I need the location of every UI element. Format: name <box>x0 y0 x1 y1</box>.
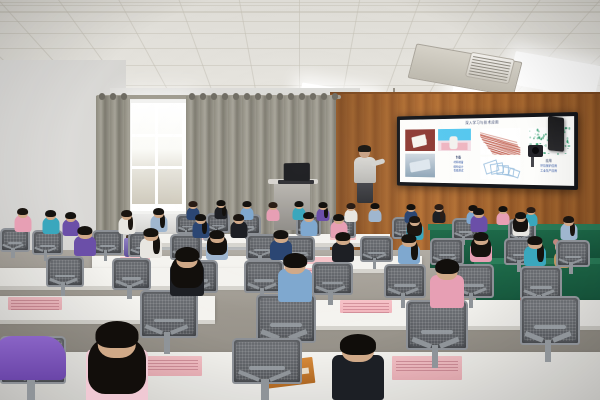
slide-speck <box>545 144 547 147</box>
student <box>332 330 384 400</box>
student-hair <box>209 230 224 239</box>
slide-speck <box>557 153 559 155</box>
student-hair <box>335 232 350 241</box>
student-torso <box>332 355 384 400</box>
chair-post <box>545 340 552 362</box>
window-glass <box>132 104 182 204</box>
presenter-laptop[interactable] <box>284 163 310 181</box>
student-hair <box>333 214 345 222</box>
student <box>332 230 354 262</box>
student-hair <box>143 228 158 237</box>
curtain-hook <box>332 93 338 100</box>
student <box>42 208 59 234</box>
student-hair <box>17 208 29 216</box>
slide-speck <box>545 134 546 135</box>
curtain-hook <box>233 93 239 100</box>
curtain-hook <box>189 93 195 100</box>
curtain-hook <box>321 93 327 100</box>
student-hair <box>294 201 303 207</box>
slide-speck <box>529 136 531 138</box>
student <box>316 201 329 221</box>
chair-post <box>432 345 439 368</box>
student <box>560 214 577 240</box>
chair[interactable] <box>406 300 464 368</box>
chair[interactable] <box>140 290 194 354</box>
slide-image-fiber-diagram <box>480 128 520 155</box>
student <box>118 208 135 234</box>
chair-post <box>328 290 332 305</box>
student <box>470 206 487 232</box>
student <box>74 224 96 256</box>
student <box>14 206 31 232</box>
student-torso <box>14 215 31 232</box>
slide-speck <box>538 131 539 133</box>
chair-post <box>469 293 474 308</box>
student <box>278 250 312 302</box>
student-hair <box>195 214 207 222</box>
student-hair <box>434 204 443 210</box>
ceiling-grid-line <box>0 48 600 49</box>
student-hair <box>303 212 315 220</box>
ceiling-grid-line <box>0 33 600 34</box>
student <box>432 203 445 223</box>
student <box>170 244 204 296</box>
slide-speck <box>542 137 544 139</box>
slide-speck <box>564 132 566 134</box>
wall-speaker-icon <box>548 116 564 152</box>
classroom-photo: 深入学习与技术应用 制备 材料制备 结构设计 性能测试 应用 环境保护应用 工业… <box>0 0 600 400</box>
chair-post <box>261 379 269 400</box>
ceiling-grid-line <box>0 21 600 22</box>
student-hair <box>527 236 542 245</box>
chair-post <box>127 285 131 299</box>
student-torso <box>266 208 279 221</box>
student-hair <box>318 202 327 208</box>
student-hair <box>188 201 197 207</box>
curtain-hook <box>299 93 305 100</box>
chair[interactable] <box>92 230 119 261</box>
slide-speck <box>568 148 569 150</box>
curtain-hook <box>222 93 228 100</box>
student-hair <box>406 204 415 210</box>
slide-bullet: 工业生产应用 <box>540 168 557 172</box>
student <box>230 212 247 238</box>
curtain-hook <box>288 93 294 100</box>
student-hair <box>370 203 379 209</box>
chair-post <box>401 293 406 308</box>
chair-backrest <box>232 338 302 384</box>
student-hair <box>473 232 488 241</box>
student-hair <box>515 212 527 220</box>
student <box>398 232 420 264</box>
student-torso <box>332 242 354 262</box>
student-torso <box>368 209 381 222</box>
student-hair <box>346 203 355 209</box>
chair[interactable] <box>520 296 576 362</box>
slide-speck <box>568 128 571 130</box>
slide-speck <box>534 134 535 135</box>
slide-speck <box>565 145 567 146</box>
slide-speck <box>567 145 570 147</box>
chair-post <box>61 282 65 296</box>
chair[interactable] <box>0 228 26 258</box>
slide-speck <box>534 136 536 137</box>
chair-post <box>569 262 573 274</box>
curtain-hook <box>99 93 105 100</box>
chair[interactable] <box>46 256 80 296</box>
student <box>206 228 228 260</box>
student-hair <box>216 200 225 206</box>
student <box>430 256 464 308</box>
student <box>524 234 546 266</box>
wall-camera-icon <box>528 145 543 157</box>
slide-speck <box>564 153 566 154</box>
chair-post <box>11 248 14 258</box>
curtain-hook <box>200 93 206 100</box>
chair[interactable] <box>312 262 349 305</box>
chair-post <box>27 378 34 400</box>
handout-paper <box>142 356 202 376</box>
chair-backrest <box>520 296 580 345</box>
curtain-hook <box>244 93 250 100</box>
student-hair <box>121 210 133 218</box>
student-torso <box>42 217 59 234</box>
student <box>368 202 381 222</box>
student <box>300 210 317 236</box>
slide-image-field-photo <box>438 129 471 151</box>
student <box>496 205 509 225</box>
student-hair <box>77 226 92 235</box>
curtain-hook <box>211 93 217 100</box>
slide-speck <box>533 138 534 140</box>
student-hair <box>563 216 575 224</box>
slide-speck <box>565 127 568 129</box>
slide-bullet: 环境保护应用 <box>540 164 557 168</box>
student-sleeve <box>0 336 66 380</box>
student-hair <box>153 208 165 216</box>
student-hair <box>409 216 421 224</box>
slide-speck <box>529 130 530 132</box>
camera-mount-arm <box>531 157 534 167</box>
curtain-hook <box>266 93 272 100</box>
slide-bullet: 材料制备 <box>453 160 463 164</box>
slide-bullets-left: 制备 材料制备 结构设计 性能测试 <box>441 156 477 174</box>
student-hair <box>175 247 199 262</box>
student-hair <box>498 206 507 212</box>
student <box>86 316 148 400</box>
student-torso <box>230 221 247 238</box>
student <box>470 230 492 262</box>
student-hair <box>401 234 416 243</box>
presenter <box>352 146 378 202</box>
student-torso <box>278 269 312 302</box>
student <box>512 210 529 236</box>
handout-paper <box>8 297 62 310</box>
student-hair <box>233 214 245 222</box>
curtain-hook <box>310 93 316 100</box>
student <box>266 201 279 221</box>
chair-post <box>164 332 170 354</box>
ceiling-grid-line <box>0 5 600 6</box>
slide-bullet: 性能测试 <box>453 169 463 173</box>
slide-speck <box>548 153 550 154</box>
slide-speck <box>543 152 545 154</box>
student-hair <box>65 212 77 220</box>
student-torso <box>496 212 509 225</box>
student-hair <box>45 210 57 218</box>
slide-speck <box>543 134 544 135</box>
student-hair <box>95 321 138 348</box>
ceiling-grid-line <box>0 2 600 3</box>
student-hair <box>473 208 485 216</box>
student-hair <box>242 201 251 207</box>
chair-post <box>373 258 376 269</box>
student-hair <box>340 334 376 355</box>
student-hair <box>435 259 459 274</box>
slide-image-fabric-photo <box>405 154 435 178</box>
chair[interactable] <box>232 338 298 400</box>
slide-image-line-sketch <box>480 157 520 180</box>
window-mullion <box>155 104 158 204</box>
curtain-hook <box>110 93 116 100</box>
student <box>140 226 162 258</box>
student-torso <box>300 219 317 236</box>
student-hair <box>273 230 288 239</box>
ceiling-grid-line <box>0 11 600 12</box>
slide-image-sample-photo <box>405 129 435 151</box>
student <box>214 199 227 219</box>
slide-sketch-shape <box>508 168 520 179</box>
slide-speck <box>536 129 538 131</box>
student-torso <box>74 236 96 256</box>
curtain-hook <box>255 93 261 100</box>
curtain-hook <box>277 93 283 100</box>
student-hair <box>283 253 307 268</box>
chair-post <box>104 250 107 261</box>
curtain-hook <box>121 93 127 100</box>
student-torso <box>430 275 464 308</box>
student-hair <box>268 202 277 208</box>
